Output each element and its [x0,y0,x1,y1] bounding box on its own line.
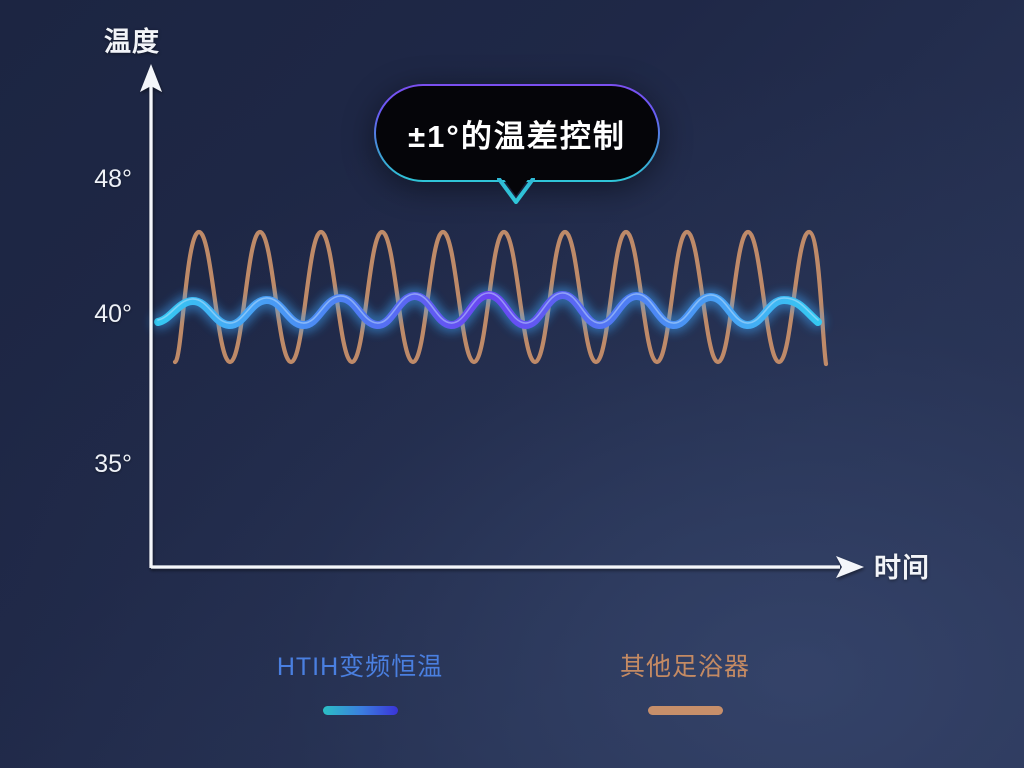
legend-swatch-htih [323,706,398,715]
legend-label-htih: HTIH变频恒温 [255,650,465,684]
legend-item-other[interactable]: 其他足浴器 [600,650,770,715]
y-tick-label-40: 40° [46,300,132,329]
chart-canvas: 温度 时间 48° 40° 35° ±1°的温差控制 HTIH变频恒温 其他足浴… [0,0,1024,768]
x-axis [151,556,864,578]
annotation-callout-tail-icon [497,178,535,204]
chart-legend: HTIH变频恒温 其他足浴器 [0,650,1024,740]
annotation-callout: ±1°的温差控制 [374,84,660,182]
y-tick-label-35: 35° [46,450,132,479]
x-axis-title: 时间 [874,546,930,585]
y-tick-label-48: 48° [46,165,132,194]
legend-item-htih[interactable]: HTIH变频恒温 [255,650,465,715]
legend-swatch-other [648,706,723,715]
y-axis [140,64,162,568]
y-axis-title: 温度 [104,20,160,59]
annotation-callout-text: ±1°的温差控制 [408,111,626,156]
annotation-callout-body: ±1°的温差控制 [376,86,658,180]
legend-label-other: 其他足浴器 [600,650,770,684]
